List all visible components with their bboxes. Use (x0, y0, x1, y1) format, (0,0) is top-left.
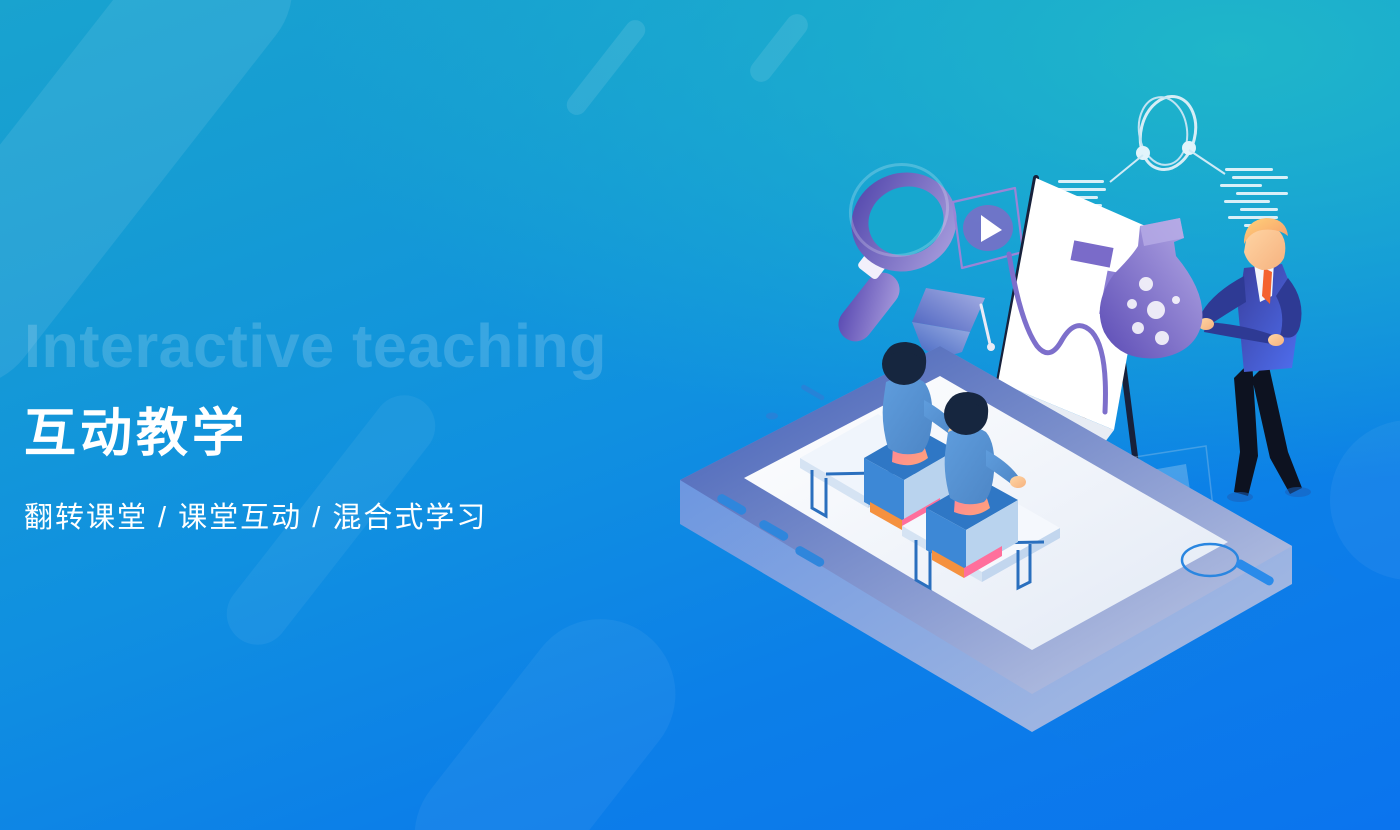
decor-streak-small-1 (563, 16, 650, 119)
graduation-cap-icon (912, 288, 995, 355)
english-ghost-title: Interactive teaching (24, 316, 744, 377)
video-play-icon (953, 188, 1023, 268)
page-subtitle: 翻转课堂 / 课堂互动 / 混合式学习 (24, 494, 744, 536)
page-title: 互动教学 (24, 407, 744, 462)
hero-text-block: Interactive teaching 互动教学 翻转课堂 / 课堂互动 / … (24, 316, 744, 536)
isometric-classroom-illustration (640, 60, 1400, 790)
hero-banner: Interactive teaching 互动教学 翻转课堂 / 课堂互动 / … (0, 0, 1400, 830)
